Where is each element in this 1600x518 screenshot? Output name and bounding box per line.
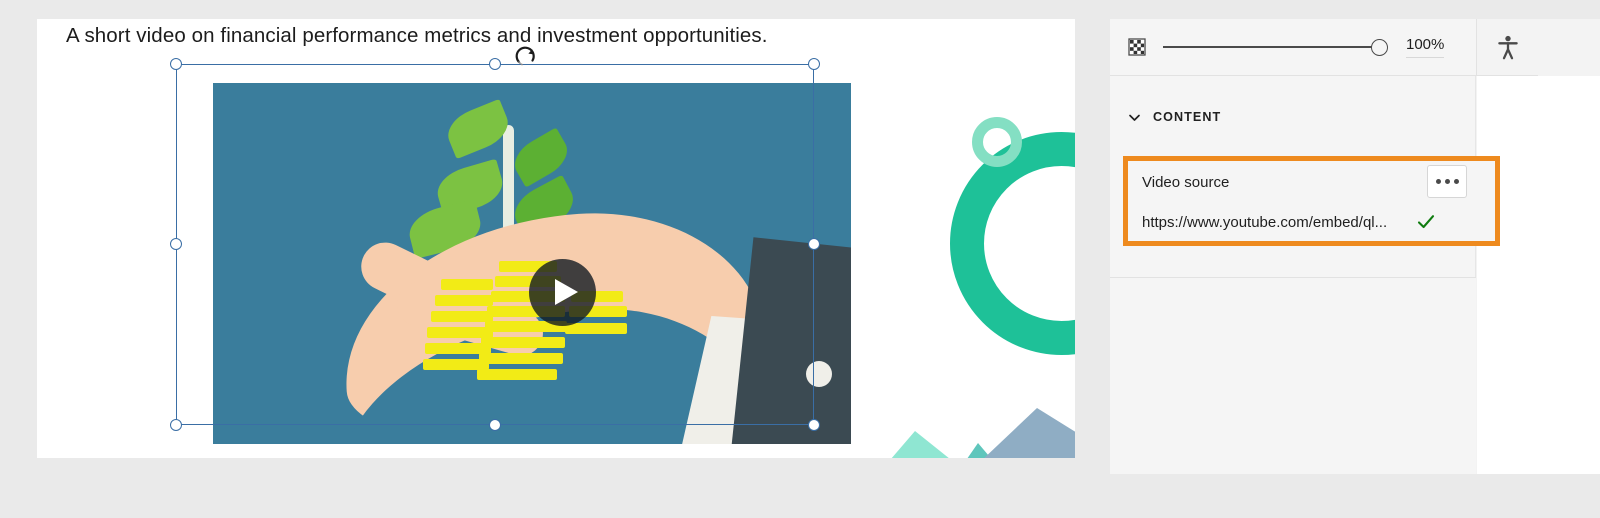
coin-icon <box>479 353 563 364</box>
zoom-level-value[interactable]: 100% <box>1406 37 1444 58</box>
chevron-down-icon[interactable] <box>1127 110 1142 125</box>
coin-icon <box>435 295 493 306</box>
app-root: A short video on financial performance m… <box>0 0 1600 518</box>
resize-handle-bottom-right[interactable] <box>808 419 820 431</box>
panel-toolbar-filler <box>1538 19 1600 76</box>
zoom-slider[interactable] <box>1163 36 1385 58</box>
resize-handle-bottom-left[interactable] <box>170 419 182 431</box>
decor-mountain-grey-icon <box>942 408 1075 458</box>
decor-ring-large-icon <box>950 132 1075 355</box>
video-source-label: Video source <box>1142 174 1229 191</box>
rotate-handle[interactable] <box>513 44 539 70</box>
suit-sleeve <box>729 237 851 444</box>
properties-panel: 100% CONTENT Video source <box>1110 19 1600 474</box>
resize-handle-middle-right[interactable] <box>808 238 820 250</box>
resize-handle-middle-left[interactable] <box>170 238 182 250</box>
coin-icon <box>481 337 565 348</box>
panel-empty-area <box>1110 278 1476 474</box>
content-section-title: CONTENT <box>1153 110 1221 124</box>
zoom-slider-track[interactable] <box>1163 46 1385 48</box>
play-icon <box>555 279 578 305</box>
slide-canvas-area[interactable]: A short video on financial performance m… <box>0 0 1095 474</box>
sleeve-button-icon <box>806 361 832 387</box>
ellipsis-dot <box>1445 179 1450 184</box>
resize-handle-bottom-center[interactable] <box>489 419 501 431</box>
video-placeholder[interactable] <box>213 83 851 444</box>
video-source-highlight-box: Video source https://www.youtube.com/emb… <box>1123 156 1500 246</box>
coin-icon <box>565 323 627 334</box>
play-button[interactable] <box>529 259 596 326</box>
zoom-toolbar: 100% <box>1110 19 1476 76</box>
resize-handle-top-left[interactable] <box>170 58 182 70</box>
video-url-row[interactable]: https://www.youtube.com/embed/ql... <box>1128 209 1495 241</box>
decor-ring-small-icon <box>972 117 1022 167</box>
ellipsis-dot <box>1436 179 1441 184</box>
accessibility-button[interactable] <box>1476 19 1538 76</box>
check-icon <box>1416 212 1436 232</box>
video-source-row: Video source <box>1128 161 1495 209</box>
resize-handle-top-center[interactable] <box>489 58 501 70</box>
panel-body: CONTENT Video source https://www.youtube… <box>1110 76 1476 474</box>
coin-icon <box>431 311 493 322</box>
checkerboard-icon[interactable] <box>1127 37 1147 57</box>
more-options-button[interactable] <box>1427 165 1467 198</box>
coin-icon <box>441 279 493 290</box>
zoom-slider-thumb[interactable] <box>1371 39 1388 56</box>
accessibility-icon <box>1496 35 1520 60</box>
ellipsis-dot <box>1454 179 1459 184</box>
resize-handle-top-right[interactable] <box>808 58 820 70</box>
content-section-header[interactable]: CONTENT <box>1110 102 1476 132</box>
slide-page[interactable]: A short video on financial performance m… <box>37 19 1075 458</box>
panel-background-filler <box>1477 76 1600 474</box>
coin-icon <box>477 369 557 380</box>
video-url-value[interactable]: https://www.youtube.com/embed/ql... <box>1142 214 1387 231</box>
